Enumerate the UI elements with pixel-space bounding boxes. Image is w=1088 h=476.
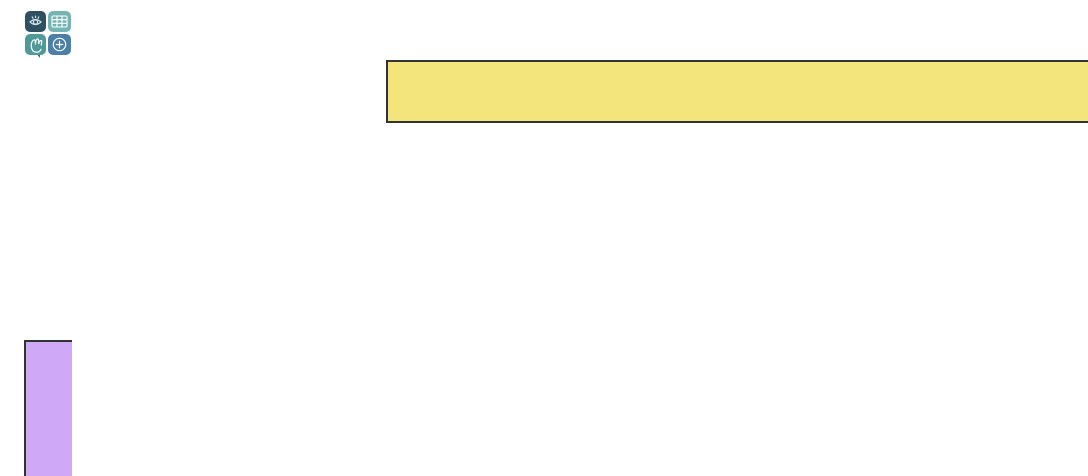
column-header-row [386, 123, 1088, 338]
identity-field-personnes-interviewees[interactable] [32, 251, 382, 303]
identity-form [32, 95, 382, 303]
criteria-table [24, 340, 1088, 476]
brand-logo [22, 8, 84, 60]
identity-field-date-naissance[interactable] [32, 147, 382, 199]
category-band [24, 340, 72, 476]
modalities-banner [386, 60, 1088, 123]
caapables-logo-icon [22, 8, 74, 60]
identity-field-nom[interactable] [32, 95, 382, 147]
identity-field-date-evaluation[interactable] [32, 199, 382, 251]
